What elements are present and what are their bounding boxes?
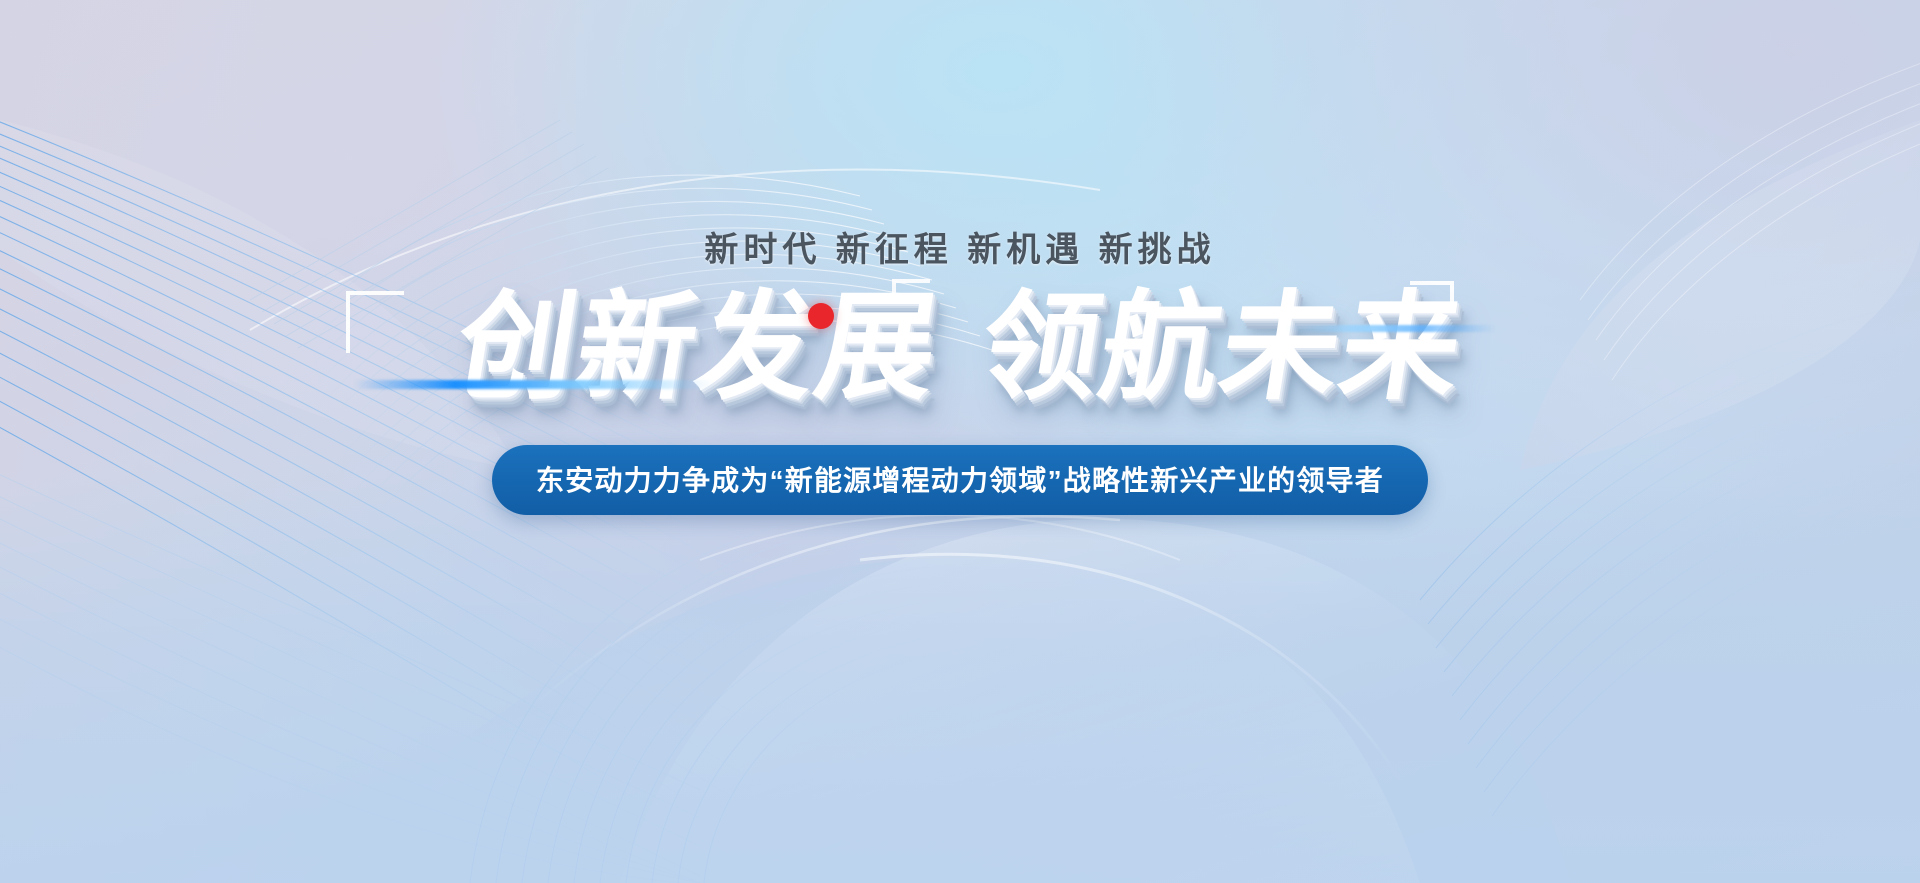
- banner-content: 新时代 新征程 新机遇 新挑战 创新发展领航未来 东安动力力争成为“新能源增程动…: [0, 0, 1920, 883]
- headline-part-1: 创新发展: [447, 278, 949, 416]
- headline-part-2: 领航未来: [971, 278, 1473, 416]
- headline-block: 创新发展领航未来: [380, 287, 1540, 407]
- eyebrow-slogan: 新时代 新征程 新机遇 新挑战: [704, 222, 1215, 271]
- blue-light-streak-right-icon: [1286, 325, 1496, 332]
- corner-bracket-top-left-icon: [346, 291, 404, 353]
- blue-light-streak-left-icon: [354, 380, 714, 389]
- subtitle-pill: 东安动力力争成为“新能源增程动力领域”战略性新兴产业的领导者: [492, 445, 1428, 515]
- promo-banner: 新时代 新征程 新机遇 新挑战 创新发展领航未来 东安动力力争成为“新能源增程动…: [0, 0, 1920, 883]
- red-dot-accent-icon: [808, 303, 834, 329]
